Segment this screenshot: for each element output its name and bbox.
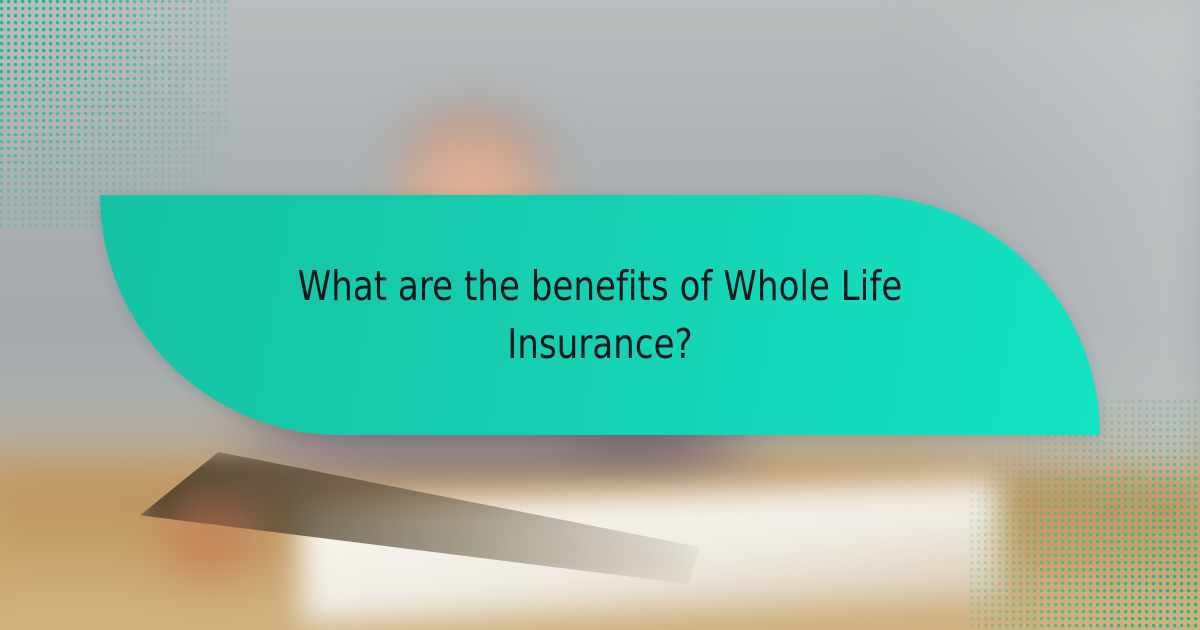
title-banner: What are the benefits of Whole Life Insu…	[100, 195, 1100, 435]
background-person-hand	[150, 490, 270, 590]
og-image-canvas: What are the benefits of Whole Life Insu…	[0, 0, 1200, 630]
page-title: What are the benefits of Whole Life Insu…	[296, 257, 903, 373]
